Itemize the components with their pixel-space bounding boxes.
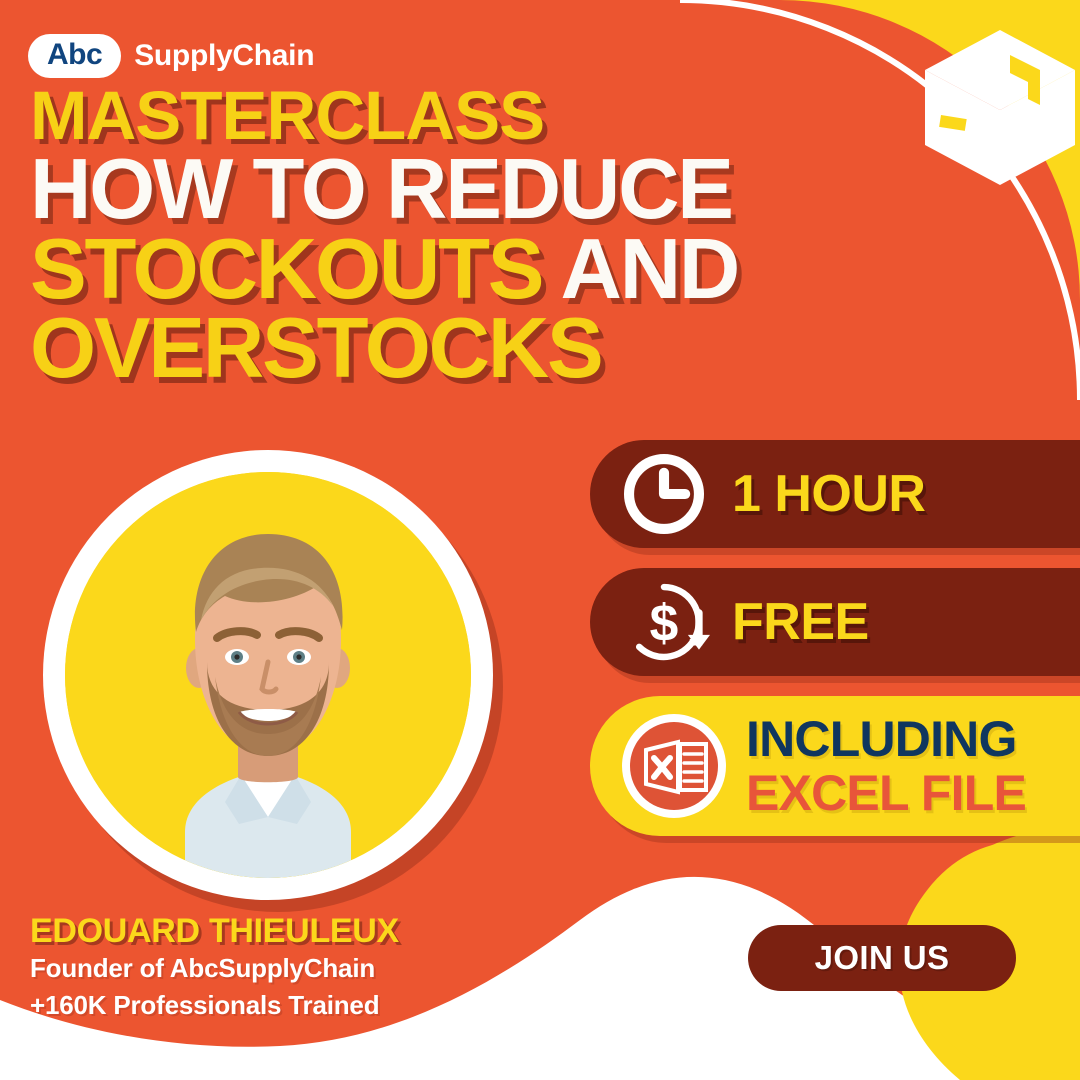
badge-price[interactable]: $ FREE <box>590 568 1080 676</box>
feature-badge-list: 1 HOUR $ FREE <box>590 440 1080 836</box>
money-back-icon: $ <box>618 576 710 668</box>
join-us-label: JOIN US <box>815 939 950 977</box>
headline-line-2: STOCKOUTS AND <box>30 231 830 309</box>
clock-icon <box>618 448 710 540</box>
badge-price-label: FREE <box>732 596 869 648</box>
badge-duration[interactable]: 1 HOUR <box>590 440 1080 548</box>
headline-block: MASTERCLASS HOW TO REDUCE STOCKOUTS AND … <box>30 84 830 388</box>
brand-logo[interactable]: Abc SupplyChain <box>28 34 314 78</box>
headline-keyword-overstocks: OVERSTOCKS <box>30 301 602 396</box>
headline-eyebrow: MASTERCLASS <box>30 84 830 147</box>
badge-duration-label: 1 HOUR <box>732 468 925 520</box>
logo-mark-pill: Abc <box>28 34 121 78</box>
join-us-button[interactable]: JOIN US <box>748 925 1016 991</box>
logo-wordmark: SupplyChain <box>134 41 314 71</box>
presenter-role: Founder of AbcSupplyChain <box>30 950 399 988</box>
headline-line-1: HOW TO REDUCE <box>30 151 830 229</box>
presenter-credential: +160K Professionals Trained <box>30 987 399 1025</box>
presenter-avatar <box>43 450 493 900</box>
headline-line-3: OVERSTOCKS <box>30 310 830 388</box>
badge-excel-text: INCLUDING EXCEL FILE <box>746 714 1026 818</box>
badge-excel-file[interactable]: INCLUDING EXCEL FILE <box>590 696 1080 836</box>
presenter-photo <box>65 472 471 878</box>
logo-mark-text: Abc <box>47 40 102 70</box>
presenter-name: EDOUARD THIEULEUX <box>30 913 399 950</box>
masterclass-promo-poster: Abc SupplyChain MASTERCLASS HOW TO REDUC… <box>0 0 1080 1080</box>
presenter-info: EDOUARD THIEULEUX Founder of AbcSupplyCh… <box>30 913 399 1025</box>
excel-file-icon <box>618 710 730 822</box>
svg-text:$: $ <box>650 593 679 651</box>
badge-excel-line-2: EXCEL FILE <box>746 768 1026 818</box>
avatar-photo-circle <box>65 472 471 878</box>
badge-excel-line-1: INCLUDING <box>746 714 1026 764</box>
